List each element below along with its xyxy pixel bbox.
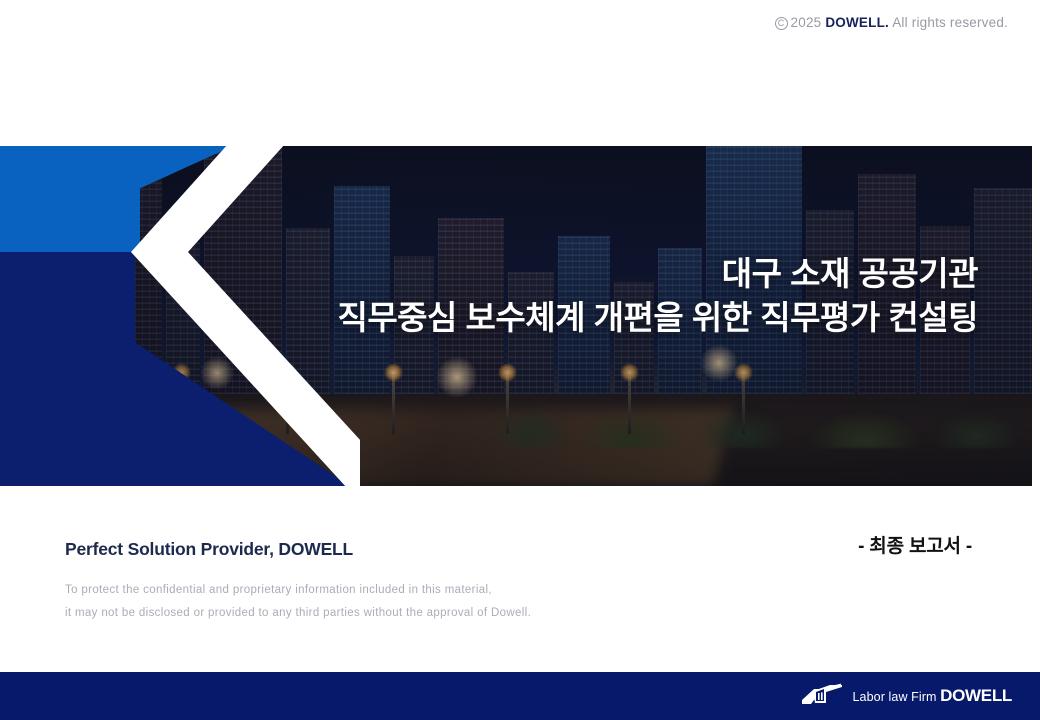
report-type-label: - 최종 보고서 -: [858, 531, 972, 558]
hero-title-line2: 직무중심 보수체계 개편을 위한 직무평가 컨설팅: [337, 296, 978, 340]
disclaimer-line1: To protect the confidential and propriet…: [65, 579, 531, 602]
copyright-year: 2025: [791, 15, 822, 30]
copyright-icon: C: [775, 17, 788, 30]
dowell-logo-icon: [800, 683, 844, 709]
copyright-brand: DOWELL.: [825, 15, 889, 30]
company-logo: Labor law Firm DOWELL: [800, 683, 1013, 709]
logo-prefix: Labor law Firm: [853, 690, 941, 704]
hero-title-line1: 대구 소재 공공기관: [337, 252, 978, 296]
hero-title: 대구 소재 공공기관 직무중심 보수체계 개편을 위한 직무평가 컨설팅: [337, 252, 978, 339]
footer-bar: Labor law Firm DOWELL: [0, 672, 1040, 720]
copyright-rights: All rights reserved.: [892, 15, 1008, 30]
logo-brand: DOWELL: [940, 686, 1012, 705]
disclaimer: To protect the confidential and propriet…: [65, 579, 531, 625]
disclaimer-line2: it may not be disclosed or provided to a…: [65, 602, 531, 625]
logo-wordmark: Labor law Firm DOWELL: [853, 686, 1013, 706]
copyright-notice: C2025 DOWELL. All rights reserved.: [775, 15, 1008, 30]
tagline: Perfect Solution Provider, DOWELL: [65, 539, 353, 560]
